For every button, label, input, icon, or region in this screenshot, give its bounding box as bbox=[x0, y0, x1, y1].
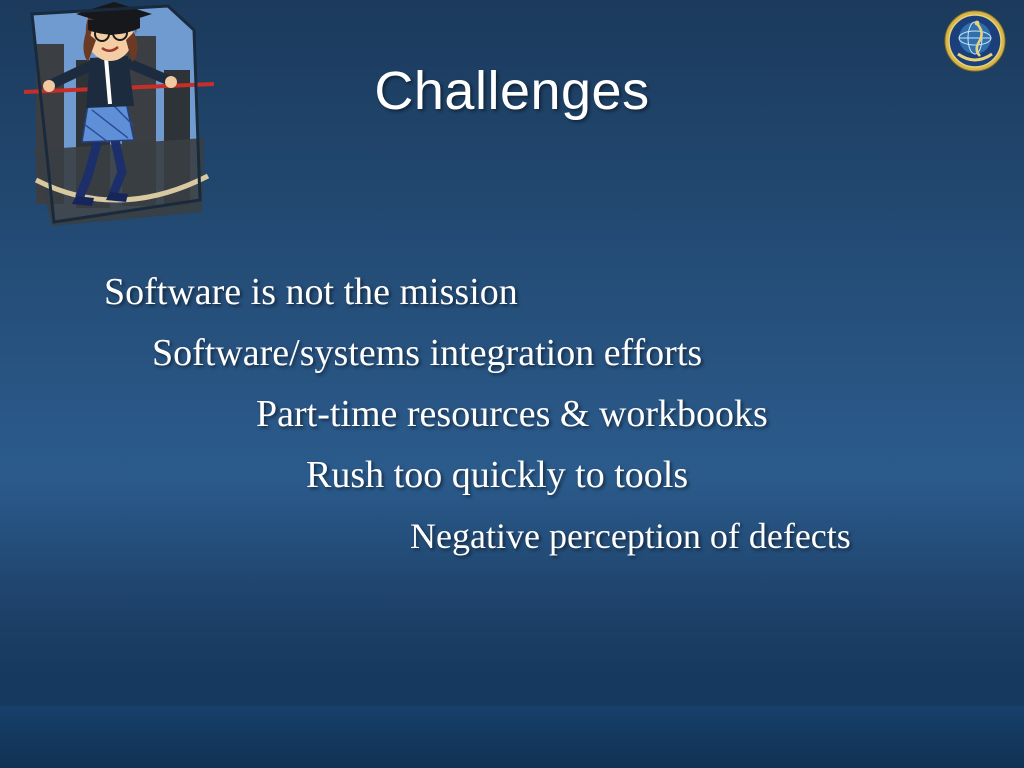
list-item: Rush too quickly to tools bbox=[0, 445, 1024, 506]
list-item: Software/systems integration efforts bbox=[0, 323, 1024, 384]
list-item: Part-time resources & workbooks bbox=[0, 384, 1024, 445]
list-item: Negative perception of defects bbox=[0, 506, 1024, 567]
page-title: Challenges bbox=[0, 60, 1024, 122]
presentation-slide: Challenges Software is not the mission S… bbox=[0, 0, 1024, 768]
list-item: Software is not the mission bbox=[0, 262, 1024, 323]
bullet-list: Software is not the mission Software/sys… bbox=[0, 262, 1024, 567]
